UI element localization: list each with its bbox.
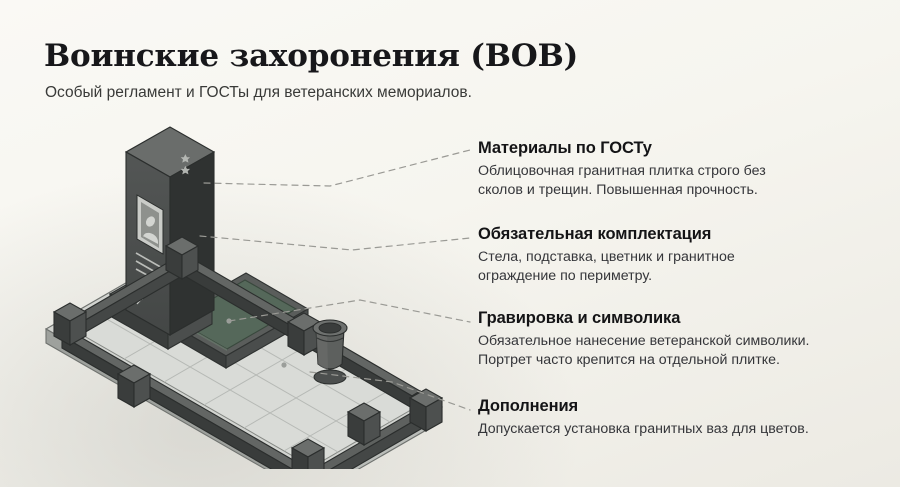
callout-body-line: Портрет часто крепится на отдельной плит… <box>478 351 882 370</box>
callout-body-line: сколов и трещин. Повышенная прочность. <box>478 181 882 200</box>
callout-body: Облицовочная гранитная плитка строго без… <box>478 162 882 199</box>
callout-body-line: Обязательное нанесение ветеранской симво… <box>478 332 882 351</box>
memorial-illustration <box>24 124 464 469</box>
infographic-page: Воинские захоронения (ВОВ) Особый реглам… <box>0 0 900 487</box>
anchor-dot <box>281 362 286 367</box>
fence-post <box>166 237 198 279</box>
callout-body-line: ограждение по периметру. <box>478 267 882 286</box>
callout-body: Стела, подставка, цветник и гранитное ог… <box>478 248 882 285</box>
callout-item-engraving: Гравировка и символика Обязательное нане… <box>478 308 882 369</box>
callout-title: Обязательная комплектация <box>478 224 882 244</box>
page-title: Воинские захоронения (ВОВ) <box>44 38 604 74</box>
fence-post <box>54 303 86 345</box>
fence-post <box>118 365 150 407</box>
callout-title: Гравировка и символика <box>478 308 882 328</box>
callout-title: Дополнения <box>478 396 882 416</box>
callout-body: Допускается установка гранитных ваз для … <box>478 420 882 439</box>
callout-item-extras: Дополнения Допускается установка гранитн… <box>478 396 882 439</box>
page-subtitle: Особый регламент и ГОСТы для ветеранских… <box>45 83 604 103</box>
fence-post <box>410 389 442 431</box>
callout-body: Обязательное нанесение ветеранской симво… <box>478 332 882 369</box>
callout-body-line: Облицовочная гранитная плитка строго без <box>478 162 882 181</box>
callout-item-materials: Материалы по ГОСТу Облицовочная гранитна… <box>478 138 882 199</box>
fence-post <box>288 313 320 355</box>
anchor-dot <box>226 318 231 323</box>
callout-body-line: Допускается установка гранитных ваз для … <box>478 420 882 439</box>
granite-vase <box>313 320 347 384</box>
callout-body-line: Стела, подставка, цветник и гранитное <box>478 248 882 267</box>
callout-item-components: Обязательная комплектация Стела, подстав… <box>478 224 882 285</box>
stele <box>126 127 214 335</box>
header: Воинские захоронения (ВОВ) Особый реглам… <box>44 38 604 103</box>
fence-post <box>348 403 380 445</box>
callout-title: Материалы по ГОСТу <box>478 138 882 158</box>
